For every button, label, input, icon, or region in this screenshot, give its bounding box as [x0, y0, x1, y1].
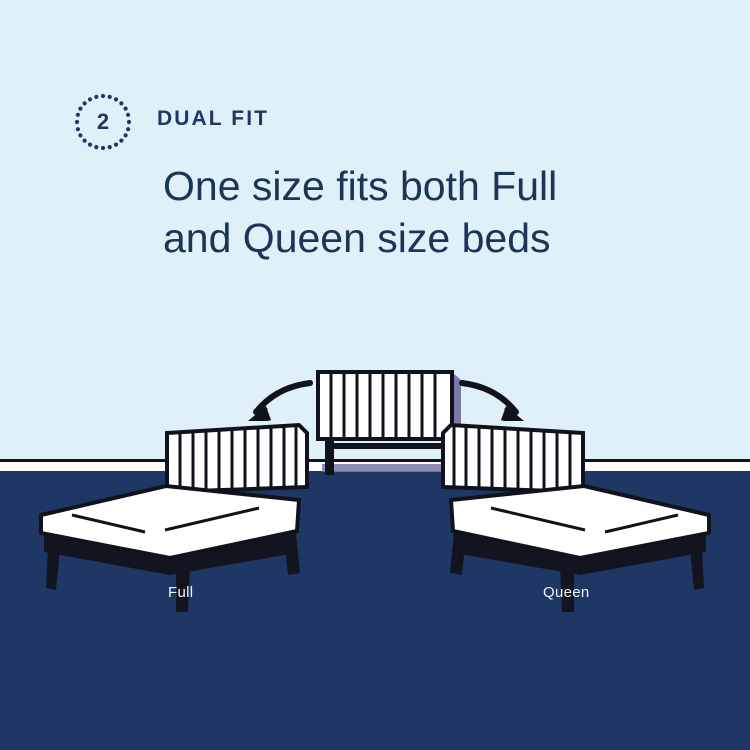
step-badge: 2 [74, 93, 132, 151]
headline-line-2: and Queen size beds [163, 212, 693, 264]
slide-canvas: 2 DUAL FIT One size fits both Full and Q… [0, 0, 750, 750]
bed-label-queen: Queen [543, 584, 590, 601]
headline-line-1: One size fits both Full [163, 160, 693, 212]
bed-label-full: Full [168, 584, 193, 601]
page-headline: One size fits both Full and Queen size b… [163, 160, 693, 265]
center-headboard [318, 372, 461, 475]
section-eyebrow: DUAL FIT [157, 107, 269, 131]
curved-arrow-right-icon [462, 383, 524, 421]
step-number: 2 [74, 93, 132, 151]
curved-arrow-left-icon [248, 383, 310, 421]
